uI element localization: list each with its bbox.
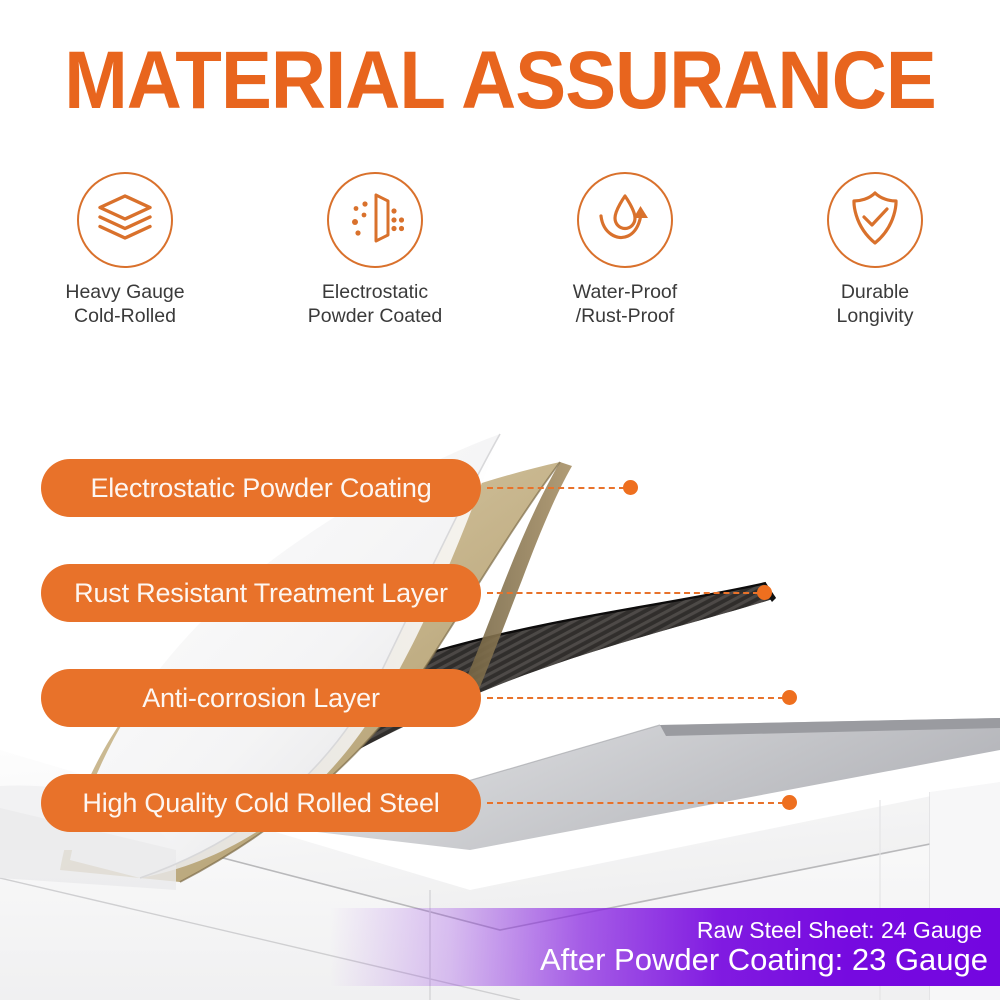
leader-dot-powder-coating (623, 480, 638, 495)
layered-steel-illustration (0, 330, 1000, 1000)
feature-heavy-gauge: Heavy Gauge Cold-Rolled (0, 172, 250, 347)
feature-badge-row: Heavy Gauge Cold-Rolled (0, 172, 1000, 347)
callout-cold-rolled-steel: High Quality Cold Rolled Steel (41, 774, 481, 832)
leader-dot-cold-rolled-steel (782, 795, 797, 810)
water-droplet-arrow-icon (595, 191, 655, 250)
callout-powder-coating: Electrostatic Powder Coating (41, 459, 481, 517)
leader-line-powder-coating (487, 487, 625, 489)
callout-anti-corrosion: Anti-corrosion Layer (41, 669, 481, 727)
feature-label: Heavy Gauge Cold-Rolled (65, 281, 184, 329)
feature-waterproof: Water-Proof /Rust-Proof (500, 172, 750, 347)
gauge-banner: Raw Steel Sheet: 24 Gauge After Powder C… (0, 908, 1000, 986)
leader-line-cold-rolled-steel (487, 802, 784, 804)
feature-label: Electrostatic Powder Coated (308, 281, 442, 329)
feature-icon-circle (77, 172, 173, 268)
feature-label: Durable Longivity (837, 281, 914, 329)
leader-dot-anti-corrosion (782, 690, 797, 705)
feature-label: Water-Proof /Rust-Proof (573, 281, 677, 329)
leader-dot-rust-resistant (757, 585, 772, 600)
gauge-raw-steel-text: Raw Steel Sheet: 24 Gauge (697, 918, 982, 942)
leader-line-rust-resistant (487, 592, 759, 594)
shield-check-icon (847, 189, 903, 252)
layers-stack-icon (96, 192, 154, 249)
feature-icon-circle (327, 172, 423, 268)
leader-line-anti-corrosion (487, 697, 784, 699)
gauge-after-coating-text: After Powder Coating: 23 Gauge (540, 944, 988, 977)
infographic-canvas: MATERIAL ASSURANCE Heavy Gauge Cold-Roll… (0, 0, 1000, 1000)
feature-icon-circle (577, 172, 673, 268)
page-title: MATERIAL ASSURANCE (35, 40, 965, 122)
feature-durable: Durable Longivity (750, 172, 1000, 347)
powder-spray-icon (346, 190, 404, 251)
feature-icon-circle (827, 172, 923, 268)
callout-rust-resistant: Rust Resistant Treatment Layer (41, 564, 481, 622)
feature-electrostatic: Electrostatic Powder Coated (250, 172, 500, 347)
